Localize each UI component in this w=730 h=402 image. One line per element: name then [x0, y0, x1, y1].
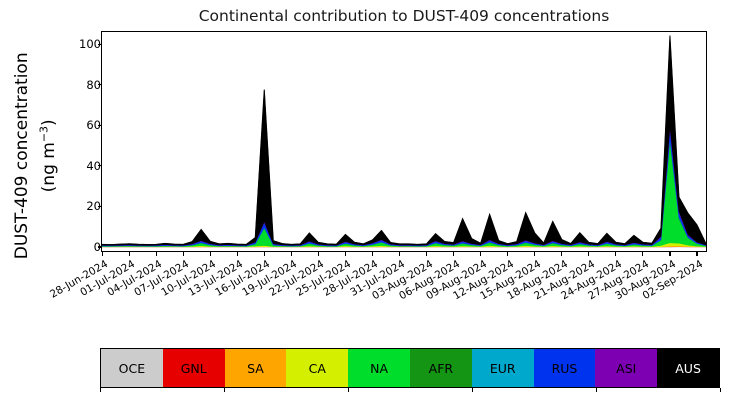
plot-area[interactable]: [101, 31, 707, 252]
y-axis-label-line1: DUST-409 concentration: [12, 52, 32, 259]
y-tick-label: 100: [67, 38, 101, 50]
x-tick-mark: [696, 252, 697, 256]
x-tick-mark: [426, 252, 427, 256]
legend-tick-mark: [224, 388, 225, 392]
continent-color-legend[interactable]: OCEGNLSACANAAFREURRUSASIAUS: [100, 348, 720, 388]
legend-cell-afr[interactable]: AFR: [410, 349, 472, 387]
legend-label: EUR: [490, 361, 516, 376]
legend-cell-rus[interactable]: RUS: [534, 349, 596, 387]
y-tick-label: 0: [67, 241, 101, 253]
chart-title: Continental contribution to DUST-409 con…: [101, 6, 707, 26]
legend-tick-mark: [100, 388, 101, 392]
x-tick-mark: [318, 252, 319, 256]
x-tick-mark: [372, 252, 373, 256]
y-tick-label: 40: [67, 160, 101, 172]
y-axis-label-line2: (ng m−3): [39, 119, 59, 192]
legend-label: ASI: [616, 361, 636, 376]
total-concentration-line: [102, 36, 706, 245]
x-tick-mark: [129, 252, 130, 256]
legend-tick-mark: [472, 388, 473, 392]
x-tick-mark: [264, 252, 265, 256]
series-area-eur: [102, 138, 706, 246]
legend-label: AUS: [675, 361, 701, 376]
x-tick-mark: [345, 252, 346, 256]
y-tick-label: 60: [67, 119, 101, 131]
x-tick-mark: [183, 252, 184, 256]
y-axis-ticks: 020406080100: [59, 0, 101, 402]
legend-cell-sa[interactable]: SA: [225, 349, 287, 387]
x-tick-mark: [507, 252, 508, 256]
y-axis-label: DUST-409 concentration (ng m−3): [12, 36, 60, 276]
series-area-na: [102, 141, 706, 246]
x-tick-mark: [534, 252, 535, 256]
legend-cell-aus[interactable]: AUS: [657, 349, 719, 387]
legend-cell-na[interactable]: NA: [348, 349, 410, 387]
x-tick-mark: [615, 252, 616, 256]
stacked-area-series: [102, 32, 706, 251]
x-tick-mark: [561, 252, 562, 256]
x-tick-mark: [399, 252, 400, 256]
legend-cell-gnl[interactable]: GNL: [163, 349, 225, 387]
figure-canvas: Continental contribution to DUST-409 con…: [0, 0, 730, 402]
legend-cell-eur[interactable]: EUR: [472, 349, 534, 387]
x-tick-mark: [669, 252, 670, 256]
legend-cell-oce[interactable]: OCE: [101, 349, 163, 387]
y-tick-label: 80: [67, 79, 101, 91]
legend-label: OCE: [119, 361, 145, 376]
x-tick-mark: [291, 252, 292, 256]
legend-label: SA: [247, 361, 264, 376]
x-tick-mark: [237, 252, 238, 256]
x-tick-mark: [453, 252, 454, 256]
y-tick-label: 20: [67, 200, 101, 212]
x-tick-mark: [156, 252, 157, 256]
legend-axis-ticks: [100, 388, 720, 396]
legend-tick-mark: [596, 388, 597, 392]
legend-cell-asi[interactable]: ASI: [595, 349, 657, 387]
x-tick-mark: [210, 252, 211, 256]
legend-label: AFR: [429, 361, 453, 376]
x-tick-mark: [588, 252, 589, 256]
series-area-afr: [102, 140, 706, 247]
legend-label: RUS: [552, 361, 578, 376]
series-area-rus: [102, 129, 706, 246]
series-area-asi: [102, 127, 706, 246]
x-tick-mark: [102, 252, 103, 256]
x-tick-mark: [642, 252, 643, 256]
legend-cell-ca[interactable]: CA: [286, 349, 348, 387]
series-area-aus: [102, 36, 706, 246]
x-tick-mark: [480, 252, 481, 256]
legend-tick-mark: [348, 388, 349, 392]
legend-label: CA: [309, 361, 326, 376]
legend-label: GNL: [181, 361, 207, 376]
legend-tick-mark: [720, 388, 721, 392]
legend-label: NA: [370, 361, 388, 376]
